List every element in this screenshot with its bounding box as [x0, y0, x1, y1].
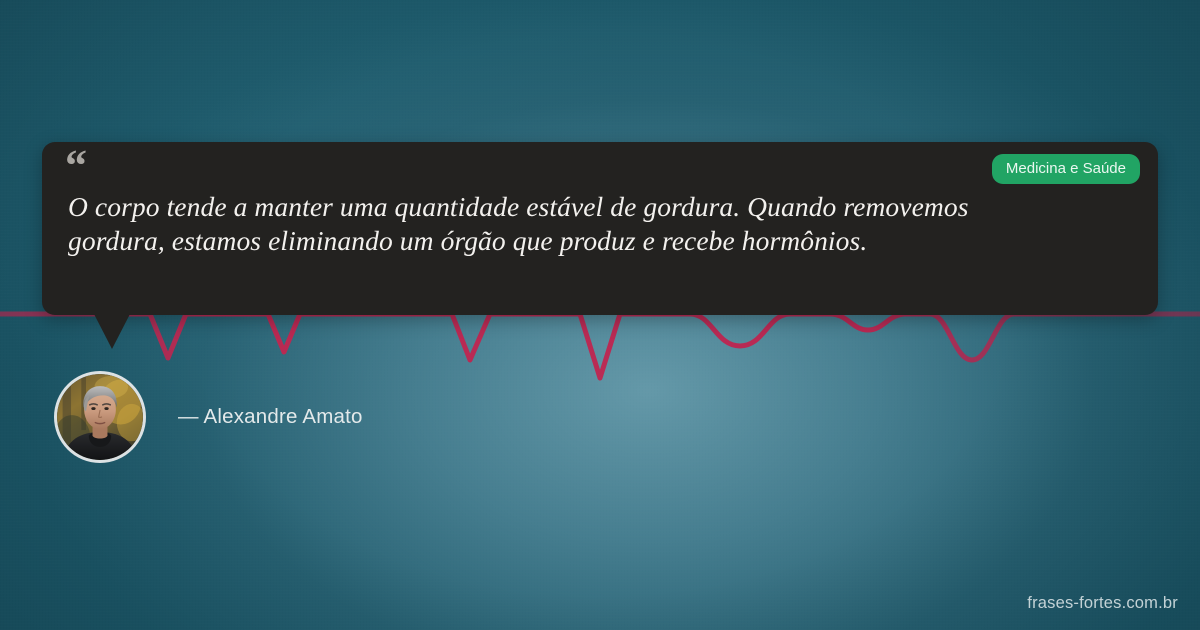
quote-card-tail — [94, 314, 130, 349]
background-noise-texture — [0, 0, 1200, 630]
quote-open-mark-icon: “ — [65, 144, 86, 188]
avatar[interactable] — [54, 371, 146, 463]
site-watermark: frases-fortes.com.br — [1027, 594, 1178, 613]
avatar-photo — [57, 374, 143, 460]
quote-text: O corpo tende a manter uma quantidade es… — [68, 190, 1070, 258]
quote-image-canvas: “ O corpo tende a manter uma quantidade … — [0, 0, 1200, 630]
author-name: — Alexandre Amato — [178, 405, 363, 429]
quote-card: “ O corpo tende a manter uma quantidade … — [42, 142, 1158, 315]
status-badge[interactable]: Medicina e Saúde — [992, 154, 1140, 184]
attribution: — Alexandre Amato — [54, 371, 363, 463]
